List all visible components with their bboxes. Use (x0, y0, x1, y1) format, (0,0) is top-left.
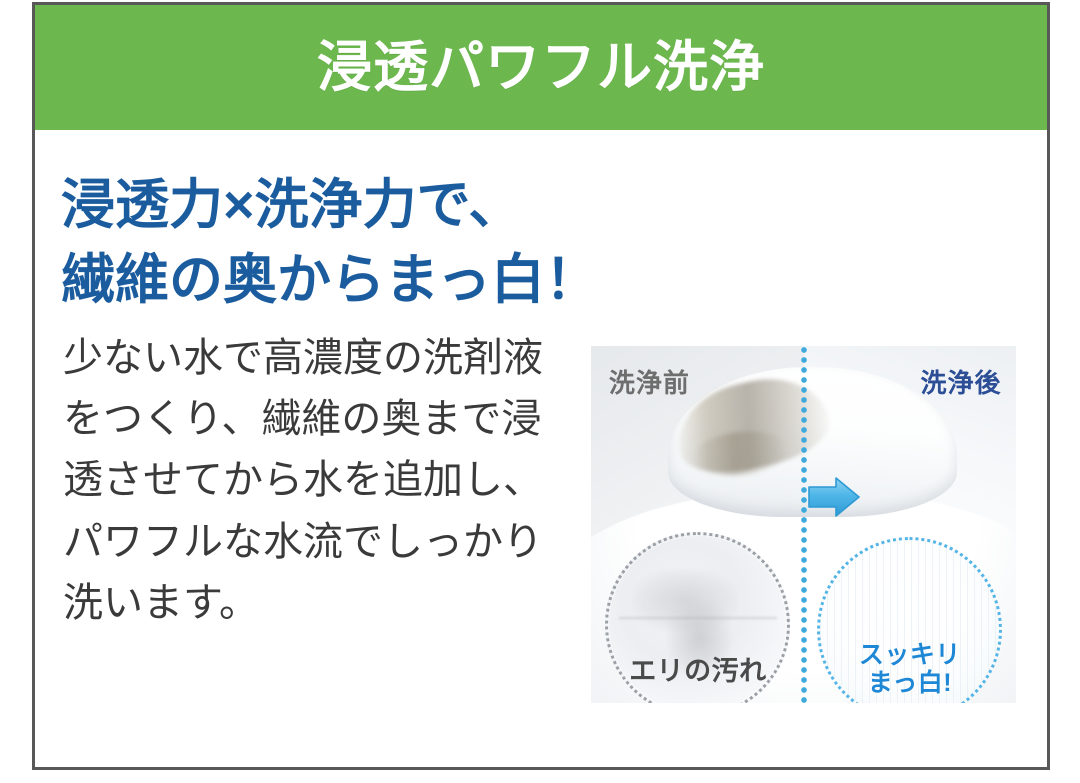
headline-line-1: 浸透力×洗浄力で、 (61, 168, 599, 243)
zoom-circle-after-label: スッキリ まっ白! (859, 641, 961, 697)
headline-line-2: 繊維の奥からまっ白！ (61, 243, 599, 318)
feature-card: 浸透パワフル洗浄 浸透力×洗浄力で、 繊維の奥からまっ白！ 少ない水で高濃度の洗… (32, 2, 1050, 770)
transition-arrow-icon (806, 474, 862, 520)
fabric-seam-line (619, 617, 777, 619)
before-after-photo: 洗浄前 洗浄後 エリの汚れ スッキリ まっ白! (591, 346, 1016, 703)
card-body: 浸透力×洗浄力で、 繊維の奥からまっ白！ 少ない水で高濃度の洗剤液をつくり、繊維… (35, 130, 1047, 767)
card-header-band: 浸透パワフル洗浄 (35, 5, 1047, 130)
zoom-circle-after-label-line-1: スッキリ (859, 641, 961, 669)
page-root: 浸透パワフル洗浄 浸透力×洗浄力で、 繊維の奥からまっ白！ 少ない水で高濃度の洗… (0, 0, 1080, 783)
zoom-circle-before-label: エリの汚れ (629, 649, 767, 688)
card-header-title: 浸透パワフル洗浄 (317, 40, 765, 95)
headline: 浸透力×洗浄力で、 繊維の奥からまっ白！ (61, 168, 599, 317)
photo-label-before: 洗浄前 (609, 363, 690, 400)
zoom-circle-after-label-line-2: まっ白! (868, 669, 952, 697)
photo-label-after: 洗浄後 (921, 363, 1002, 400)
dotted-divider-line (800, 346, 808, 703)
body-paragraph: 少ない水で高濃度の洗剤液をつくり、繊維の奥まで浸透させてから水を追加し、パワフル… (63, 328, 553, 634)
